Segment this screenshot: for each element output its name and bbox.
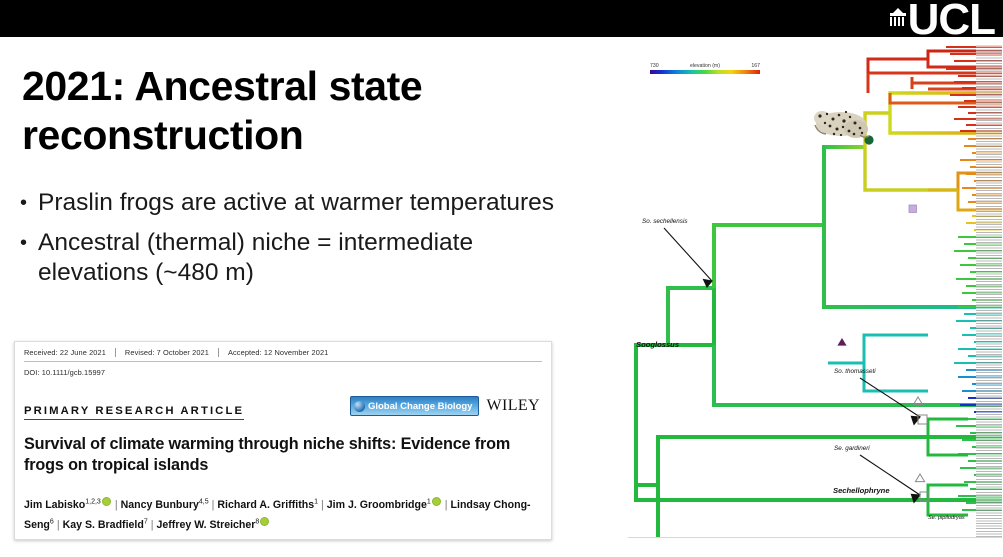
- orcid-icon[interactable]: [260, 517, 269, 526]
- author-affiliation: 8: [255, 519, 259, 526]
- bullet-text: Ancestral (thermal) niche = intermediate…: [38, 228, 565, 288]
- annotation-so-sechellensis: So. sechellensis: [642, 218, 688, 225]
- paper-accepted-date: Accepted: 12 November 2021: [219, 348, 337, 357]
- author-affiliation: 6: [50, 519, 54, 526]
- ucl-portico-icon: [890, 8, 906, 26]
- paper-received-date: Received: 22 June 2021: [24, 348, 116, 357]
- author-name: Jim J. Groombridge: [327, 499, 427, 511]
- paper-journal-branding: Global Change Biology WILEY: [350, 396, 540, 416]
- purple-square-node-marker: [909, 205, 917, 213]
- bullet-text: Praslin frogs are active at warmer tempe…: [38, 188, 565, 218]
- author-separator: |: [321, 499, 324, 511]
- annotation-sooglossus: Sooglossus: [636, 340, 679, 349]
- author-affiliation: 1: [427, 498, 431, 505]
- paper-article-type: PRIMARY RESEARCH ARTICLE: [24, 405, 244, 420]
- orcid-icon[interactable]: [432, 497, 441, 506]
- author-affiliation: 1: [314, 498, 318, 505]
- orcid-icon[interactable]: [102, 497, 111, 506]
- bullet-marker-icon: •: [20, 188, 38, 218]
- bullet-item: • Ancestral (thermal) niche = intermedia…: [20, 228, 565, 288]
- paper-dates-row: Received: 22 June 2021 Revised: 7 Octobe…: [24, 348, 542, 362]
- author-name: Jim Labisko: [24, 499, 85, 511]
- author-separator: |: [57, 519, 60, 531]
- bullet-marker-icon: •: [20, 228, 38, 288]
- paper-doi: DOI: 10.1111/gcb.15997: [24, 362, 542, 377]
- author-separator: |: [151, 519, 154, 531]
- annotation-se-pipilodryas: Se. pipilodryas: [928, 515, 965, 521]
- paper-author-list: Jim Labisko1,2,3|Nancy Bunbury4,5|Richar…: [24, 493, 542, 534]
- globe-icon: [354, 401, 365, 412]
- frog-photograph: [810, 103, 872, 141]
- journal-name: Global Change Biology: [368, 401, 473, 412]
- paper-author: Jim Labisko1,2,3: [24, 499, 112, 511]
- author-name: Kay S. Bradfield: [63, 519, 144, 531]
- bullet-list: • Praslin frogs are active at warmer tem…: [20, 188, 565, 298]
- publisher-logo: WILEY: [486, 397, 540, 415]
- author-separator: |: [115, 499, 118, 511]
- author-separator: |: [212, 499, 215, 511]
- bullet-item: • Praslin frogs are active at warmer tem…: [20, 188, 565, 218]
- author-affiliation: 1,2,3: [85, 498, 101, 505]
- author-name: Nancy Bunbury: [121, 499, 199, 511]
- top-black-bar: UCL: [0, 0, 1003, 37]
- paper-title: Survival of climate warming through nich…: [24, 434, 542, 476]
- paper-badge-row: PRIMARY RESEARCH ARTICLE Global Change B…: [24, 386, 542, 420]
- annotation-so-thomasseti: So. thomasseti: [834, 368, 876, 375]
- paper-screenshot-card: Received: 22 June 2021 Revised: 7 Octobe…: [14, 341, 552, 540]
- annotation-se-gardineri: Se. gardineri: [834, 445, 870, 452]
- tree-tip-labels: [976, 45, 1002, 537]
- phylogeny-figure: 730 elevation (m) 167: [628, 45, 1002, 538]
- paper-author: Richard A. Griffiths1: [217, 499, 318, 511]
- purple-triangle-node-marker: [837, 338, 846, 346]
- paper-author: Jeffrey W. Streicher8: [157, 519, 271, 531]
- paper-author: Kay S. Bradfield7: [63, 519, 148, 531]
- annotation-sechellophryne: Sechellophryne: [833, 486, 890, 495]
- author-name: Jeffrey W. Streicher: [157, 519, 256, 531]
- journal-badge: Global Change Biology: [350, 396, 480, 416]
- paper-author: Jim J. Groombridge1: [327, 499, 442, 511]
- author-affiliation: 7: [144, 519, 148, 526]
- paper-revised-date: Revised: 7 October 2021: [116, 348, 219, 357]
- ucl-logo-text: UCL: [908, 0, 995, 42]
- slide-title: 2021: Ancestral state reconstruction: [22, 62, 562, 160]
- ucl-logo: UCL: [890, 0, 995, 42]
- author-affiliation: 4,5: [199, 498, 209, 505]
- open-triangle-node-marker-2: [915, 474, 924, 482]
- author-separator: |: [445, 499, 448, 511]
- author-name: Richard A. Griffiths: [217, 499, 314, 511]
- paper-author: Nancy Bunbury4,5: [121, 499, 209, 511]
